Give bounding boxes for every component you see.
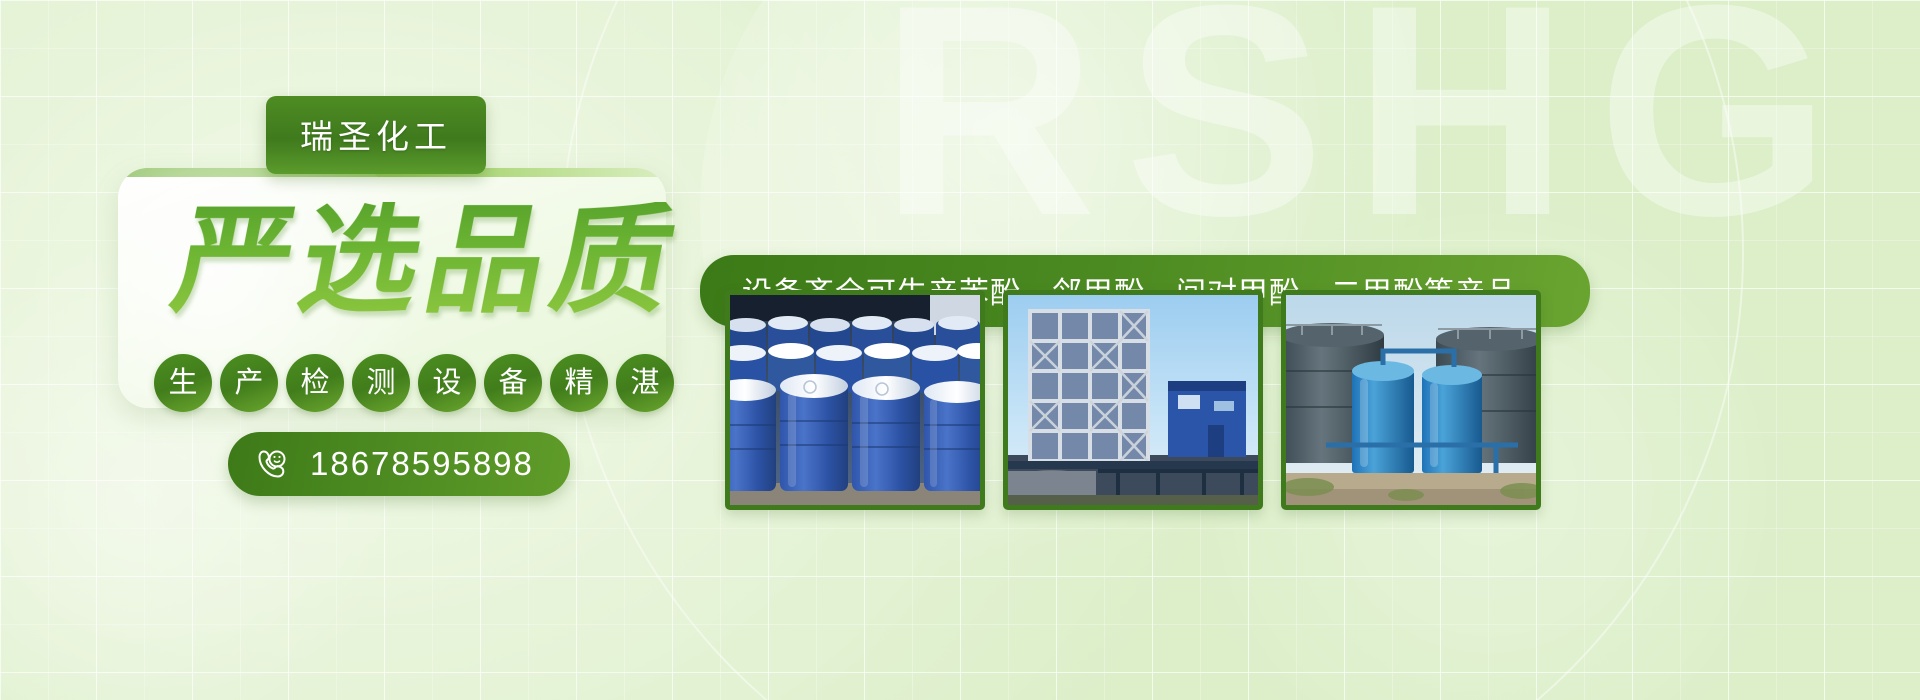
- feature-badge: 湛: [616, 354, 674, 412]
- storage-tanks-photo[interactable]: [1281, 290, 1541, 510]
- feature-badge: 产: [220, 354, 278, 412]
- feature-badge: 精: [550, 354, 608, 412]
- photo-gallery: [725, 290, 1541, 510]
- feature-badge: 设: [418, 354, 476, 412]
- plant-tower-illustration: [1008, 295, 1258, 505]
- headline-text: 严选品质: [165, 202, 692, 320]
- phone-number: 18678595898: [310, 445, 534, 483]
- phone-cta[interactable]: 18678595898: [228, 432, 570, 496]
- feature-badge: 检: [286, 354, 344, 412]
- feature-badge-row: 生 产 检 测 设 备 精 湛: [154, 354, 674, 412]
- blue-chemical-drums-photo[interactable]: [725, 290, 985, 510]
- chemical-plant-tower-photo[interactable]: [1003, 290, 1263, 510]
- storage-tanks-illustration: [1286, 295, 1536, 505]
- left-content-block: 瑞圣化工 严选品质 生 产 检 测 设 备 精 湛 18678595898: [118, 96, 678, 516]
- feature-badge: 备: [484, 354, 542, 412]
- phone-circle-icon: [252, 444, 292, 484]
- feature-badge: 生: [154, 354, 212, 412]
- drums-illustration: [730, 295, 980, 505]
- watermark-text: RSHG: [880, 0, 1780, 260]
- feature-badge: 测: [352, 354, 410, 412]
- brand-tag-label: 瑞圣化工: [300, 118, 452, 155]
- promo-banner: RSHG 瑞圣化工 严选品质 生 产 检 测 设 备 精 湛: [0, 0, 1920, 700]
- brand-tag: 瑞圣化工: [266, 96, 486, 174]
